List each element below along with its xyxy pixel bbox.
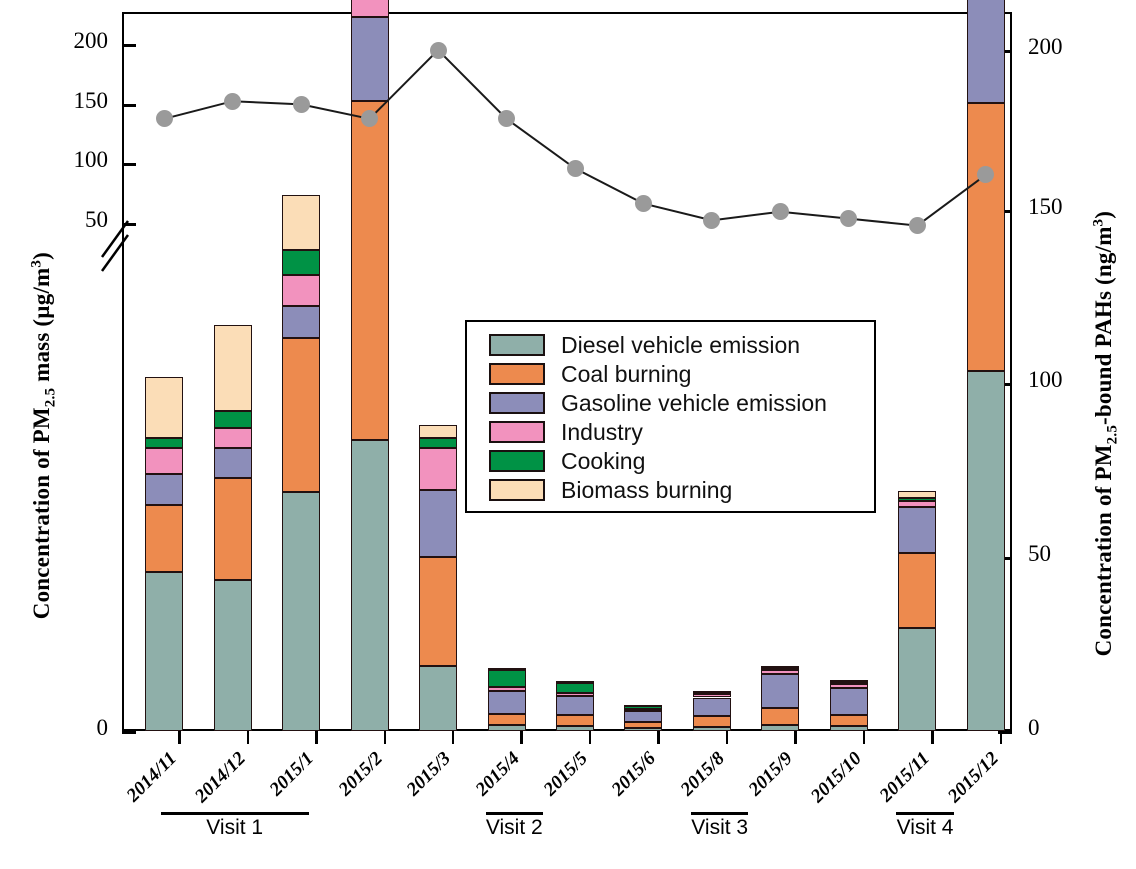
legend-label: Cooking bbox=[561, 448, 645, 475]
bar-stack[interactable] bbox=[282, 12, 320, 731]
bar-segment bbox=[761, 670, 799, 674]
bar-segment bbox=[693, 716, 731, 726]
bar-segment bbox=[419, 448, 457, 490]
bar-segment bbox=[214, 580, 252, 731]
bar-segment bbox=[898, 501, 936, 507]
bar-segment bbox=[282, 338, 320, 493]
bar-segment bbox=[624, 728, 662, 731]
bar-segment bbox=[419, 438, 457, 448]
right-tick-label: 50 bbox=[1028, 541, 1098, 567]
bar-segment bbox=[488, 687, 526, 691]
bar-segment bbox=[214, 325, 252, 411]
legend-item[interactable]: Diesel vehicle emission bbox=[489, 332, 800, 358]
x-tick-mark bbox=[1000, 731, 1003, 744]
legend-item[interactable]: Cooking bbox=[489, 448, 645, 474]
bar-segment bbox=[282, 250, 320, 275]
bar-segment bbox=[898, 553, 936, 628]
visit-text: Visit 2 bbox=[474, 816, 554, 840]
bar-segment bbox=[830, 682, 868, 684]
bar-segment bbox=[624, 711, 662, 721]
legend-item[interactable]: Industry bbox=[489, 419, 643, 445]
legend-swatch bbox=[489, 392, 545, 414]
legend-swatch bbox=[489, 363, 545, 385]
visit-rule bbox=[896, 812, 954, 815]
legend-label: Diesel vehicle emission bbox=[561, 332, 800, 359]
bar-stack[interactable] bbox=[967, 12, 1005, 731]
x-tick-mark bbox=[863, 731, 866, 744]
bar-segment bbox=[624, 709, 662, 711]
bar-segment bbox=[488, 668, 526, 670]
bar-segment bbox=[693, 698, 731, 717]
bar-segment bbox=[351, 101, 389, 440]
bar-segment bbox=[282, 306, 320, 337]
bar-segment bbox=[282, 492, 320, 731]
bar-stack[interactable] bbox=[214, 12, 252, 731]
visit-text: Visit 1 bbox=[132, 816, 337, 840]
visit-text: Visit 4 bbox=[885, 816, 965, 840]
bar-segment bbox=[693, 694, 731, 697]
bar-segment bbox=[351, 440, 389, 731]
pah-data-marker[interactable] bbox=[772, 203, 789, 220]
bar-segment bbox=[761, 668, 799, 670]
bar-segment bbox=[967, 0, 1005, 103]
left-axis-title: Concentration of PM2.5 mass (µg/m3) bbox=[28, 156, 59, 716]
x-tick-mark bbox=[520, 731, 523, 744]
bar-segment bbox=[830, 684, 868, 688]
right-axis-title: Concentration of PM2.5-bound PAHs (ng/m3… bbox=[1090, 154, 1121, 714]
legend-swatch bbox=[489, 479, 545, 501]
visit-label: Visit 3 bbox=[680, 812, 760, 840]
pah-data-marker[interactable] bbox=[909, 217, 926, 234]
left-tick-label: 200 bbox=[38, 28, 108, 54]
x-tick-mark bbox=[452, 731, 455, 744]
bar-segment bbox=[624, 722, 662, 728]
bar-segment bbox=[145, 438, 183, 448]
right-tick-label: 200 bbox=[1028, 34, 1098, 60]
bar-segment bbox=[830, 688, 868, 715]
bar-segment bbox=[145, 448, 183, 473]
legend-item[interactable]: Biomass burning bbox=[489, 477, 732, 503]
bar-segment bbox=[693, 727, 731, 731]
visit-label: Visit 1 bbox=[132, 812, 337, 840]
visit-rule bbox=[691, 812, 749, 815]
bar-segment bbox=[967, 371, 1005, 731]
bar-segment bbox=[419, 557, 457, 666]
bar-segment bbox=[488, 691, 526, 714]
visit-label: Visit 2 bbox=[474, 812, 554, 840]
left-tick-mark bbox=[122, 163, 136, 166]
bar-segment bbox=[556, 726, 594, 731]
bar-segment bbox=[556, 696, 594, 715]
bar-segment bbox=[145, 505, 183, 572]
bar-segment bbox=[898, 628, 936, 731]
legend-label: Coal burning bbox=[561, 361, 691, 388]
bar-segment bbox=[556, 683, 594, 693]
x-tick-mark bbox=[657, 731, 660, 744]
bar-segment bbox=[145, 572, 183, 731]
bar-segment bbox=[967, 103, 1005, 371]
bar-segment bbox=[830, 726, 868, 731]
legend[interactable]: Diesel vehicle emissionCoal burningGasol… bbox=[465, 320, 876, 513]
legend-label: Gasoline vehicle emission bbox=[561, 390, 827, 417]
pah-data-marker[interactable] bbox=[635, 195, 652, 212]
x-tick-mark bbox=[794, 731, 797, 744]
legend-item[interactable]: Coal burning bbox=[489, 361, 691, 387]
legend-label: Biomass burning bbox=[561, 477, 732, 504]
pah-data-marker[interactable] bbox=[293, 96, 310, 113]
visit-rule bbox=[161, 812, 309, 815]
x-tick-mark bbox=[247, 731, 250, 744]
pah-data-marker[interactable] bbox=[224, 93, 241, 110]
bar-segment bbox=[624, 705, 662, 707]
left-tick-label: 0 bbox=[38, 715, 108, 741]
bar-segment bbox=[488, 714, 526, 724]
bar-segment bbox=[214, 448, 252, 477]
bar-segment bbox=[145, 377, 183, 438]
left-tick-label: 50 bbox=[38, 207, 108, 233]
x-tick-mark bbox=[726, 731, 729, 744]
bar-segment bbox=[282, 275, 320, 306]
bar-segment bbox=[556, 715, 594, 725]
x-tick-mark bbox=[931, 731, 934, 744]
bar-segment bbox=[488, 670, 526, 687]
bar-segment bbox=[282, 195, 320, 249]
left-tick-mark bbox=[122, 44, 136, 47]
x-tick-mark bbox=[384, 731, 387, 744]
visit-rule bbox=[486, 812, 544, 815]
bar-segment bbox=[214, 411, 252, 428]
pah-data-marker[interactable] bbox=[430, 42, 447, 59]
bar-segment bbox=[419, 490, 457, 557]
bar-segment bbox=[761, 725, 799, 731]
visit-label: Visit 4 bbox=[885, 812, 965, 840]
bar-segment bbox=[830, 715, 868, 725]
bar-segment bbox=[556, 693, 594, 696]
bar-segment bbox=[214, 428, 252, 449]
right-tick-label: 0 bbox=[1028, 715, 1098, 741]
bar-stack[interactable] bbox=[419, 12, 457, 731]
legend-label: Industry bbox=[561, 419, 643, 446]
left-tick-label: 100 bbox=[38, 147, 108, 173]
legend-swatch bbox=[489, 334, 545, 356]
bar-stack[interactable] bbox=[898, 12, 936, 731]
legend-item[interactable]: Gasoline vehicle emission bbox=[489, 390, 827, 416]
bar-segment bbox=[419, 425, 457, 438]
pah-data-marker[interactable] bbox=[567, 160, 584, 177]
left-tick-mark bbox=[122, 104, 136, 107]
pah-data-marker[interactable] bbox=[156, 110, 173, 127]
bar-segment bbox=[898, 491, 936, 497]
left-tick-mark bbox=[122, 731, 136, 734]
bar-segment bbox=[351, 17, 389, 101]
x-tick-mark bbox=[178, 731, 181, 744]
legend-swatch bbox=[489, 421, 545, 443]
legend-swatch bbox=[489, 450, 545, 472]
bar-segment bbox=[761, 666, 799, 668]
bar-segment bbox=[556, 681, 594, 683]
x-tick-mark bbox=[315, 731, 318, 744]
bar-segment bbox=[830, 680, 868, 682]
left-tick-mark bbox=[122, 223, 136, 226]
right-tick-label: 100 bbox=[1028, 367, 1098, 393]
chart-figure: Concentration of PM2.5 mass (µg/m3) Conc… bbox=[0, 0, 1136, 869]
bar-segment bbox=[898, 507, 936, 553]
x-tick-mark bbox=[589, 731, 592, 744]
bar-segment bbox=[145, 474, 183, 505]
bar-segment bbox=[761, 674, 799, 707]
bar-segment bbox=[693, 691, 731, 693]
bar-segment bbox=[419, 666, 457, 731]
left-tick-label: 150 bbox=[38, 88, 108, 114]
bar-segment bbox=[351, 0, 389, 17]
visit-text: Visit 3 bbox=[680, 816, 760, 840]
bar-segment bbox=[761, 708, 799, 725]
bar-segment bbox=[214, 478, 252, 581]
right-tick-label: 150 bbox=[1028, 194, 1098, 220]
bar-segment bbox=[488, 725, 526, 731]
bar-segment bbox=[898, 498, 936, 501]
